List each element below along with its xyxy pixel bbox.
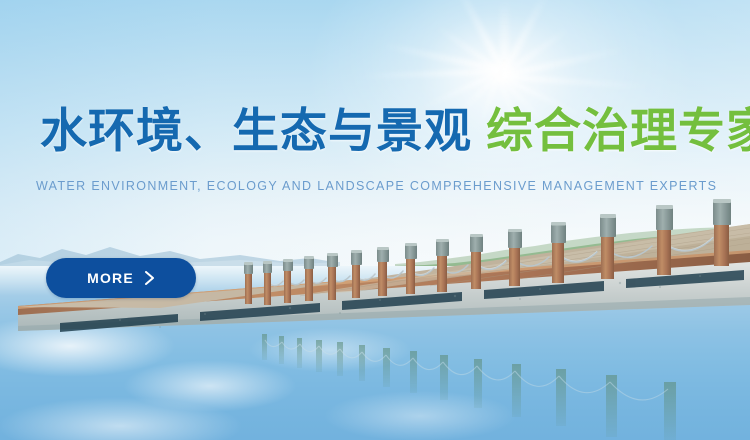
- pier-reflection: [262, 334, 676, 440]
- more-button[interactable]: MORE: [46, 258, 196, 298]
- headline-primary: 水环境、生态与景观: [40, 107, 472, 154]
- pier-structure: [0, 0, 750, 440]
- more-button-label: MORE: [87, 270, 134, 286]
- headline: 水环境、生态与景观 综合治理专家: [40, 99, 720, 161]
- subtitle: WATER ENVIRONMENT, ECOLOGY AND LANDSCAPE…: [36, 179, 717, 193]
- chevron-right-icon: [144, 271, 155, 285]
- headline-accent: 综合治理专家: [486, 107, 750, 154]
- hero-banner: 水环境、生态与景观 综合治理专家 WATER ENVIRONMENT, ECOL…: [0, 0, 750, 440]
